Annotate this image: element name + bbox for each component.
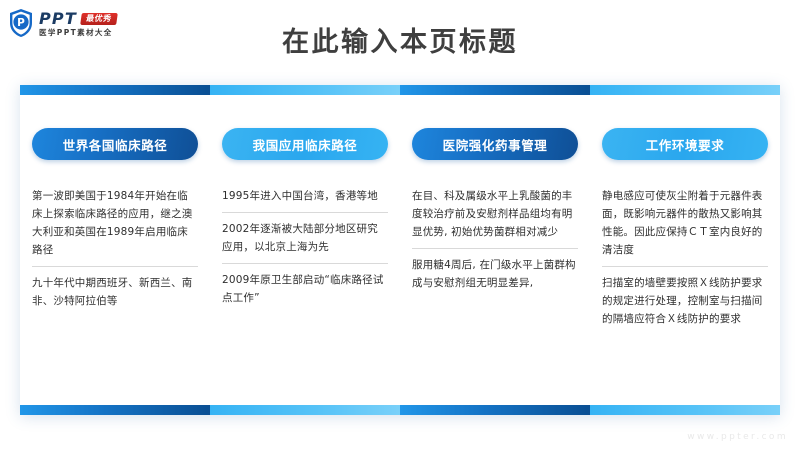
column-2-pill[interactable]: 我国应用临床路径 (222, 128, 388, 160)
text-block: 服用糖4周后, 在门级水平上菌群构成与安慰剂组无明显差异, (412, 248, 578, 299)
page-title: 在此输入本页标题 (0, 20, 800, 59)
accent-bar-7 (400, 405, 590, 415)
column-3-blocks: 在目、科及属级水平上乳酸菌的丰度较治疗前及安慰剂样品组均有明显优势, 初始优势菌… (412, 180, 578, 299)
column-container: 世界各国临床路径 第一波即美国于1984年开始在临床上探索临床路径的应用，继之澳… (20, 95, 780, 405)
content-card: 世界各国临床路径 第一波即美国于1984年开始在临床上探索临床路径的应用，继之澳… (20, 85, 780, 415)
bottom-accent-bars (20, 405, 780, 415)
text-block: 第一波即美国于1984年开始在临床上探索临床路径的应用，继之澳大利亚和英国在19… (32, 180, 198, 266)
column-2-blocks: 1995年进入中国台湾，香港等地 2002年逐渐被大陆部分地区研究应用，以北京上… (222, 180, 388, 314)
column-4: 工作环境要求 静电感应可使灰尘附着于元器件表面，既影响元器件的散热又影响其性能。… (590, 95, 780, 405)
text-block: 扫描室的墙壁要按照Ｘ线防护要求的规定进行处理，控制室与扫描间的隔墙应符合Ｘ线防护… (602, 266, 768, 335)
accent-bar-3 (400, 85, 590, 95)
column-3-pill[interactable]: 医院强化药事管理 (412, 128, 578, 160)
text-block: 九十年代中期西班牙、新西兰、南非、沙特阿拉伯等 (32, 266, 198, 317)
column-1-pill[interactable]: 世界各国临床路径 (32, 128, 198, 160)
text-block: 在目、科及属级水平上乳酸菌的丰度较治疗前及安慰剂样品组均有明显优势, 初始优势菌… (412, 180, 578, 248)
column-1-blocks: 第一波即美国于1984年开始在临床上探索临床路径的应用，继之澳大利亚和英国在19… (32, 180, 198, 317)
watermark: www.ppter.com (687, 432, 788, 442)
top-accent-bars (20, 85, 780, 95)
accent-bar-6 (210, 405, 400, 415)
column-4-pill[interactable]: 工作环境要求 (602, 128, 768, 160)
accent-bar-1 (20, 85, 210, 95)
accent-bar-4 (590, 85, 780, 95)
slide-canvas: P PPT 最优秀 医学PPT素材大全 在此输入本页标题 世界各国临床路径 第一… (0, 0, 800, 450)
column-4-blocks: 静电感应可使灰尘附着于元器件表面，既影响元器件的散热又影响其性能。因此应保持ＣＴ… (602, 180, 768, 335)
column-1: 世界各国临床路径 第一波即美国于1984年开始在临床上探索临床路径的应用，继之澳… (20, 95, 210, 405)
column-2: 我国应用临床路径 1995年进入中国台湾，香港等地 2002年逐渐被大陆部分地区… (210, 95, 400, 405)
column-3: 医院强化药事管理 在目、科及属级水平上乳酸菌的丰度较治疗前及安慰剂样品组均有明显… (400, 95, 590, 405)
text-block: 静电感应可使灰尘附着于元器件表面，既影响元器件的散热又影响其性能。因此应保持ＣＴ… (602, 180, 768, 266)
text-block: 2009年原卫生部启动“临床路径试点工作” (222, 263, 388, 314)
accent-bar-2 (210, 85, 400, 95)
text-block: 1995年进入中国台湾，香港等地 (222, 180, 388, 212)
accent-bar-5 (20, 405, 210, 415)
accent-bar-8 (590, 405, 780, 415)
text-block: 2002年逐渐被大陆部分地区研究应用，以北京上海为先 (222, 212, 388, 263)
